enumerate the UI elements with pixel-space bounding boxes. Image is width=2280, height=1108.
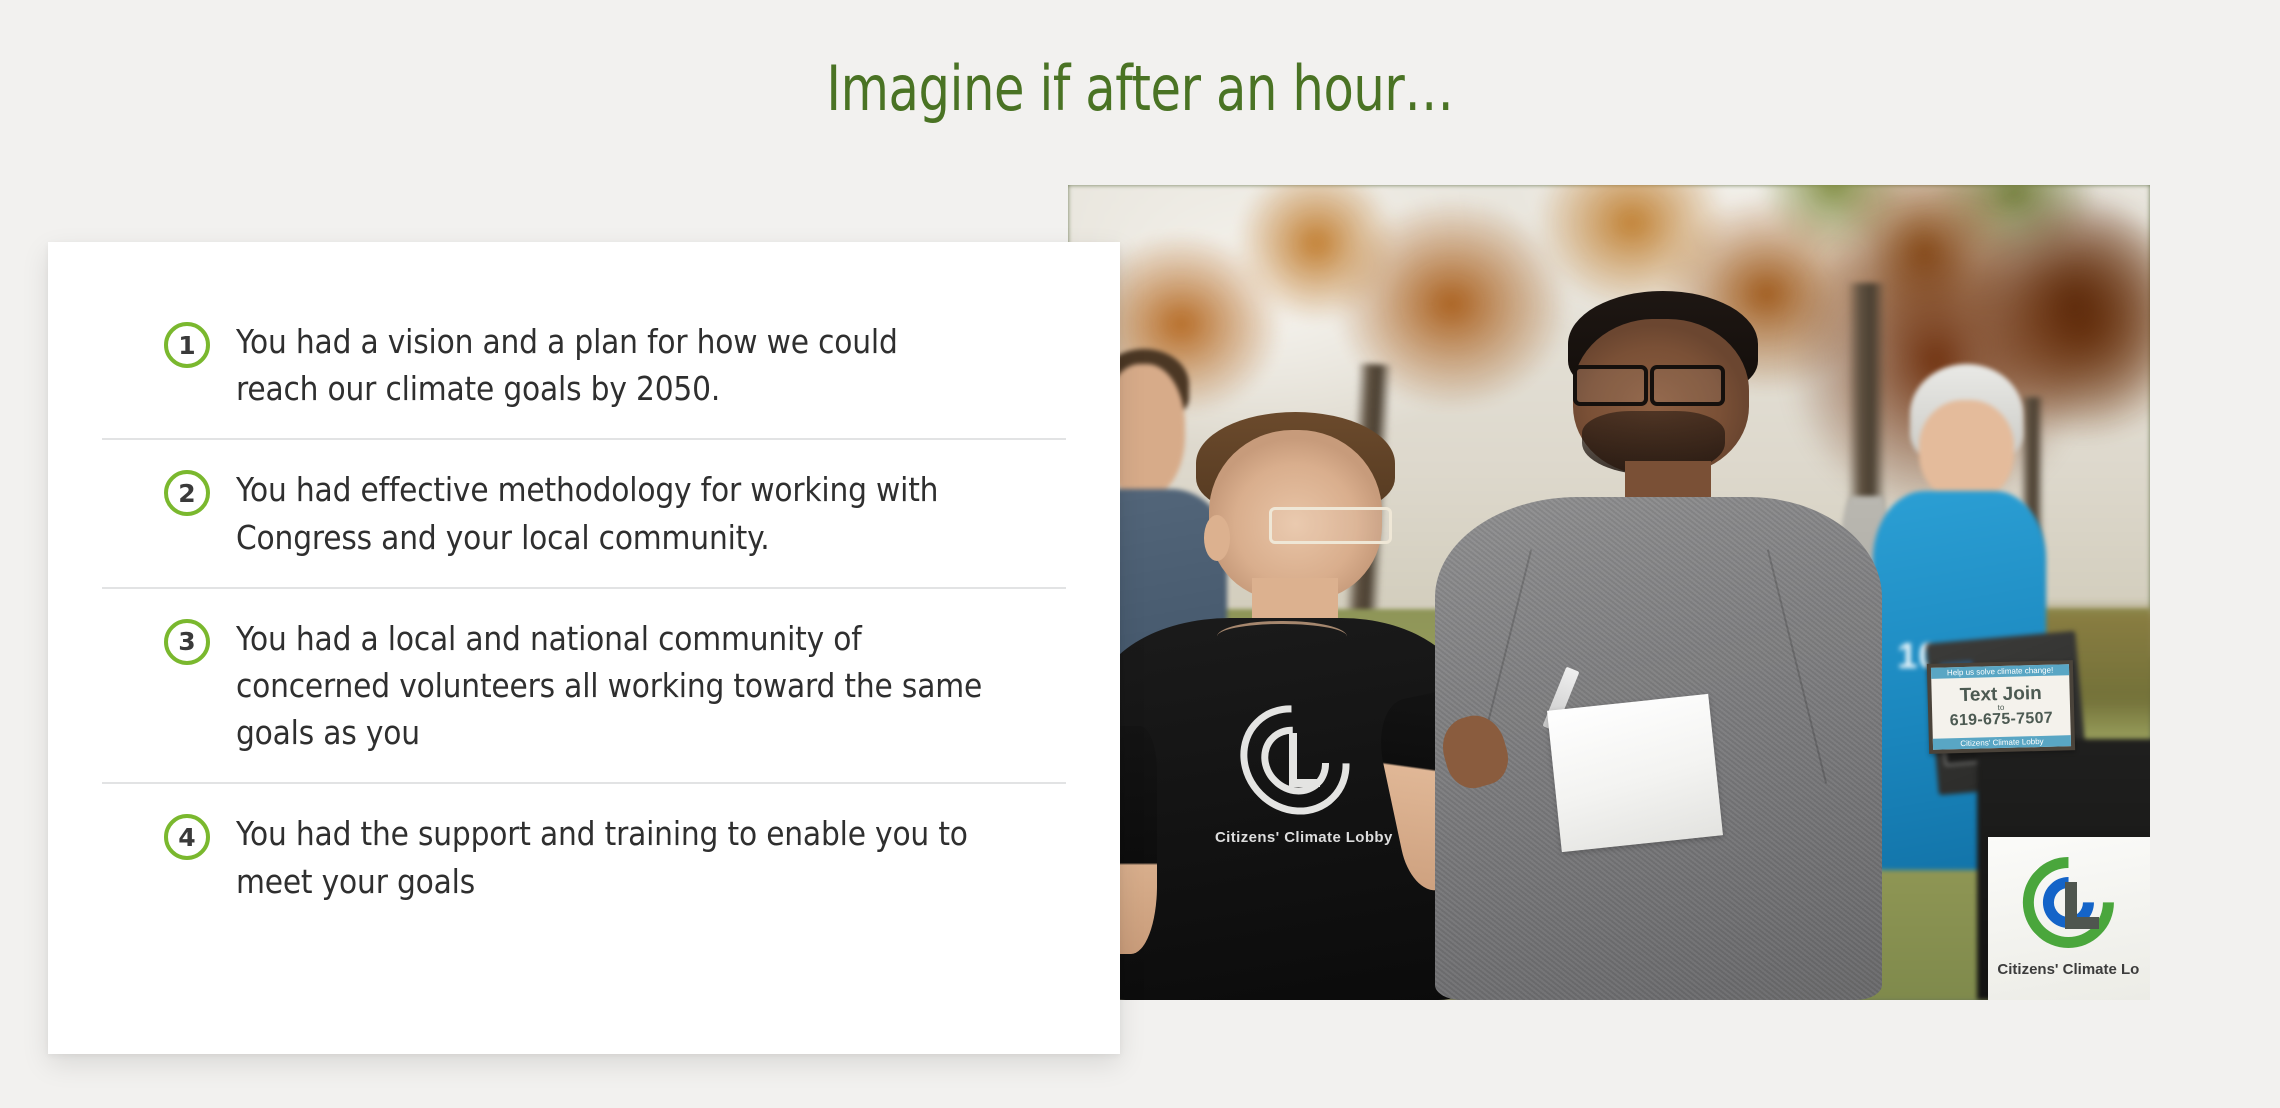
volunteers-photo: 10 Help us solve climate change! Text Jo…: [1068, 185, 2150, 1000]
logo-letter-l: [1289, 733, 1320, 787]
foreground-person-gray-sweater: [1425, 291, 1901, 1000]
ccl-logo-icon: [2023, 857, 2114, 948]
numbered-list: 1 You had a vision and a plan for how we…: [102, 292, 1066, 931]
lens-left: [1573, 365, 1648, 406]
ear: [1204, 515, 1230, 561]
list-item-text: You had a local and national community o…: [236, 615, 983, 757]
list-number-badge: 4: [164, 814, 210, 860]
tshirt-wordmark: Citizens' Climate Lobby: [1191, 829, 1416, 846]
imagine-list-card: 1 You had a vision and a plan for how we…: [48, 242, 1120, 1054]
list-item: 3 You had a local and national community…: [102, 589, 1066, 785]
list-number-badge: 2: [164, 470, 210, 516]
head: [1919, 400, 2014, 501]
list-item-text: You had a vision and a plan for how we c…: [236, 318, 983, 412]
list-item: 4 You had the support and training to en…: [102, 784, 1066, 930]
sign-bottom-banner: Citizens' Climate Lobby: [1933, 735, 2071, 750]
eyeglasses: [1573, 365, 1725, 398]
page-title: Imagine if after an hour…: [228, 52, 2052, 125]
banner-wordmark: Citizens' Climate Lobby: [1997, 961, 2140, 978]
sign-message: Text Join to 619-675-7507: [1932, 683, 2071, 730]
sign-inner: Help us solve climate change! Text Join …: [1931, 664, 2071, 749]
list-item-text: You had the support and training to enab…: [236, 810, 983, 904]
collar: [1217, 621, 1347, 653]
sign-phone-number: 619-675-7507: [1932, 710, 2070, 730]
text-join-sign: Help us solve climate change! Text Join …: [1927, 660, 2075, 753]
logo-letter-l: [2065, 882, 2099, 929]
list-number-badge: 1: [164, 322, 210, 368]
ccl-logo-icon: [1243, 703, 1347, 817]
paper-clipboard: [1547, 694, 1723, 852]
list-item-text: You had effective methodology for workin…: [236, 466, 983, 560]
sign-top-banner: Help us solve climate change!: [1931, 664, 2069, 679]
list-item: 2 You had effective methodology for work…: [102, 440, 1066, 588]
list-number-badge: 3: [164, 619, 210, 665]
photo-scene: 10 Help us solve climate change! Text Jo…: [1068, 185, 2150, 1000]
eyeglasses: [1269, 507, 1392, 544]
ccl-banner: Citizens' Climate Lobby: [1988, 837, 2150, 1000]
list-item: 1 You had a vision and a plan for how we…: [102, 292, 1066, 440]
lens-right: [1650, 365, 1725, 406]
